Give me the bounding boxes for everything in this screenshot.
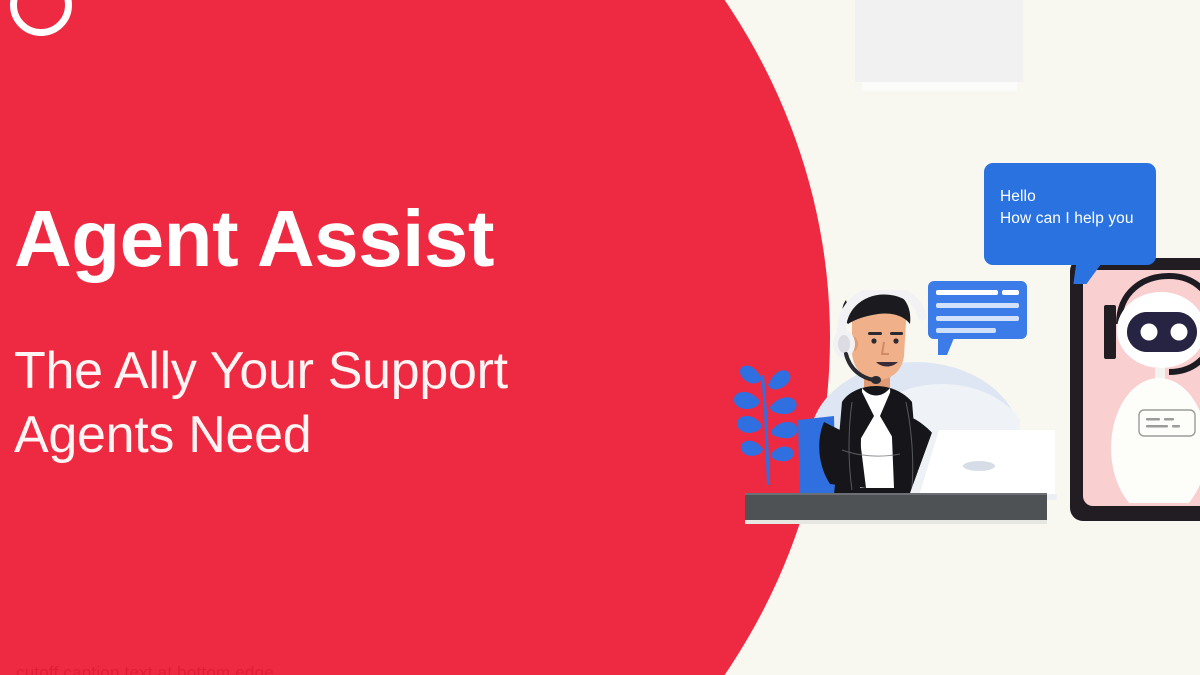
circular-chat-logo-icon (24, 0, 58, 21)
chatbot-robot-icon (1103, 268, 1200, 503)
agent-assist-banner: Agent Assist The Ally Your Support Agent… (0, 0, 1200, 675)
footer-clipped-caption: cutoff caption text at bottom edge (16, 663, 274, 675)
background-panel (855, 0, 1023, 82)
message-line (936, 290, 998, 295)
page-title: Agent Assist (14, 199, 494, 279)
message-line (936, 316, 1019, 321)
message-line (936, 328, 996, 333)
red-left-fill (0, 0, 300, 675)
hello-bubble-text: Hello How can I help you (1000, 186, 1134, 231)
background-panel-shadow (862, 82, 1017, 91)
brand-logo[interactable] (10, 0, 72, 36)
desk-icon (745, 495, 1047, 520)
message-bubble-tail (938, 338, 954, 355)
message-line (1002, 290, 1019, 295)
desk-underside (745, 520, 1047, 524)
laptop-icon (905, 424, 1065, 504)
hello-bubble-tail (1073, 262, 1102, 284)
page-subtitle: The Ally Your Support Agents Need (14, 340, 508, 468)
message-line (936, 303, 1019, 308)
